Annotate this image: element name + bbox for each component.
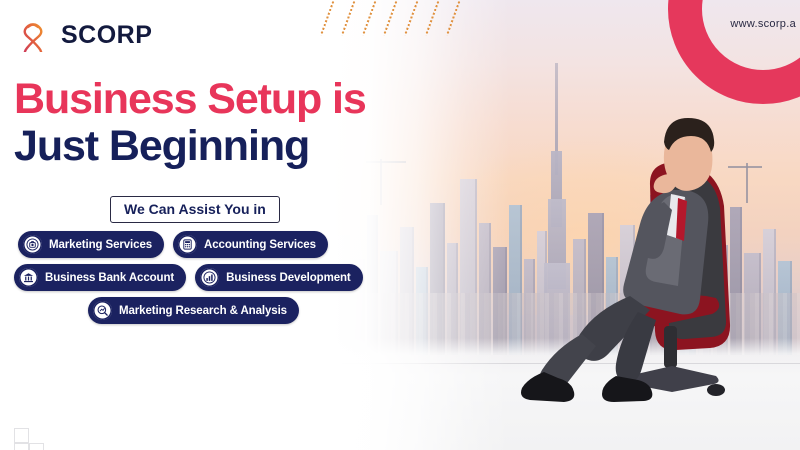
service-row: Business Bank Account Business Developme…: [0, 264, 420, 291]
megaphone-badge-icon: [23, 235, 42, 254]
bank-building-icon: [19, 268, 38, 287]
decorative-diagonal-lines: [335, 0, 485, 42]
service-pill-label: Marketing Services: [49, 239, 152, 251]
businessman-figure: [478, 90, 778, 410]
service-pill-label: Marketing Research & Analysis: [119, 305, 287, 317]
service-pill-label: Business Bank Account: [45, 272, 174, 284]
headline-line-2: Just Beginning: [14, 125, 366, 169]
service-pill-business-bank-account[interactable]: Business Bank Account: [14, 264, 186, 291]
growth-chart-icon: [200, 268, 219, 287]
service-pill-label: Business Development: [226, 272, 351, 284]
service-row: Marketing Services Accounting Ser: [0, 231, 420, 258]
promo-banner: SCORP www.scorp.a Business Setup is Just…: [0, 0, 800, 450]
service-pill-business-development[interactable]: Business Development: [195, 264, 363, 291]
brand-logo[interactable]: SCORP: [16, 18, 152, 52]
magnifier-chart-icon: [93, 301, 112, 320]
page-title: Business Setup is Just Beginning: [14, 78, 366, 169]
service-row: Marketing Research & Analysis: [0, 297, 420, 324]
scorp-loop-icon: [16, 18, 50, 52]
brand-wordmark: SCORP: [61, 23, 152, 48]
website-url[interactable]: www.scorp.a: [730, 18, 796, 30]
calculator-icon: [178, 235, 197, 254]
headline-line-1: Business Setup is: [14, 78, 366, 122]
service-pill-marketing-services[interactable]: Marketing Services: [18, 231, 164, 258]
service-pill-accounting-services[interactable]: Accounting Services: [173, 231, 328, 258]
assist-label: We Can Assist You in: [110, 196, 280, 223]
service-list: Marketing Services Accounting Ser: [0, 231, 420, 330]
service-pill-marketing-research-analysis[interactable]: Marketing Research & Analysis: [88, 297, 299, 324]
service-pill-label: Accounting Services: [204, 239, 316, 251]
